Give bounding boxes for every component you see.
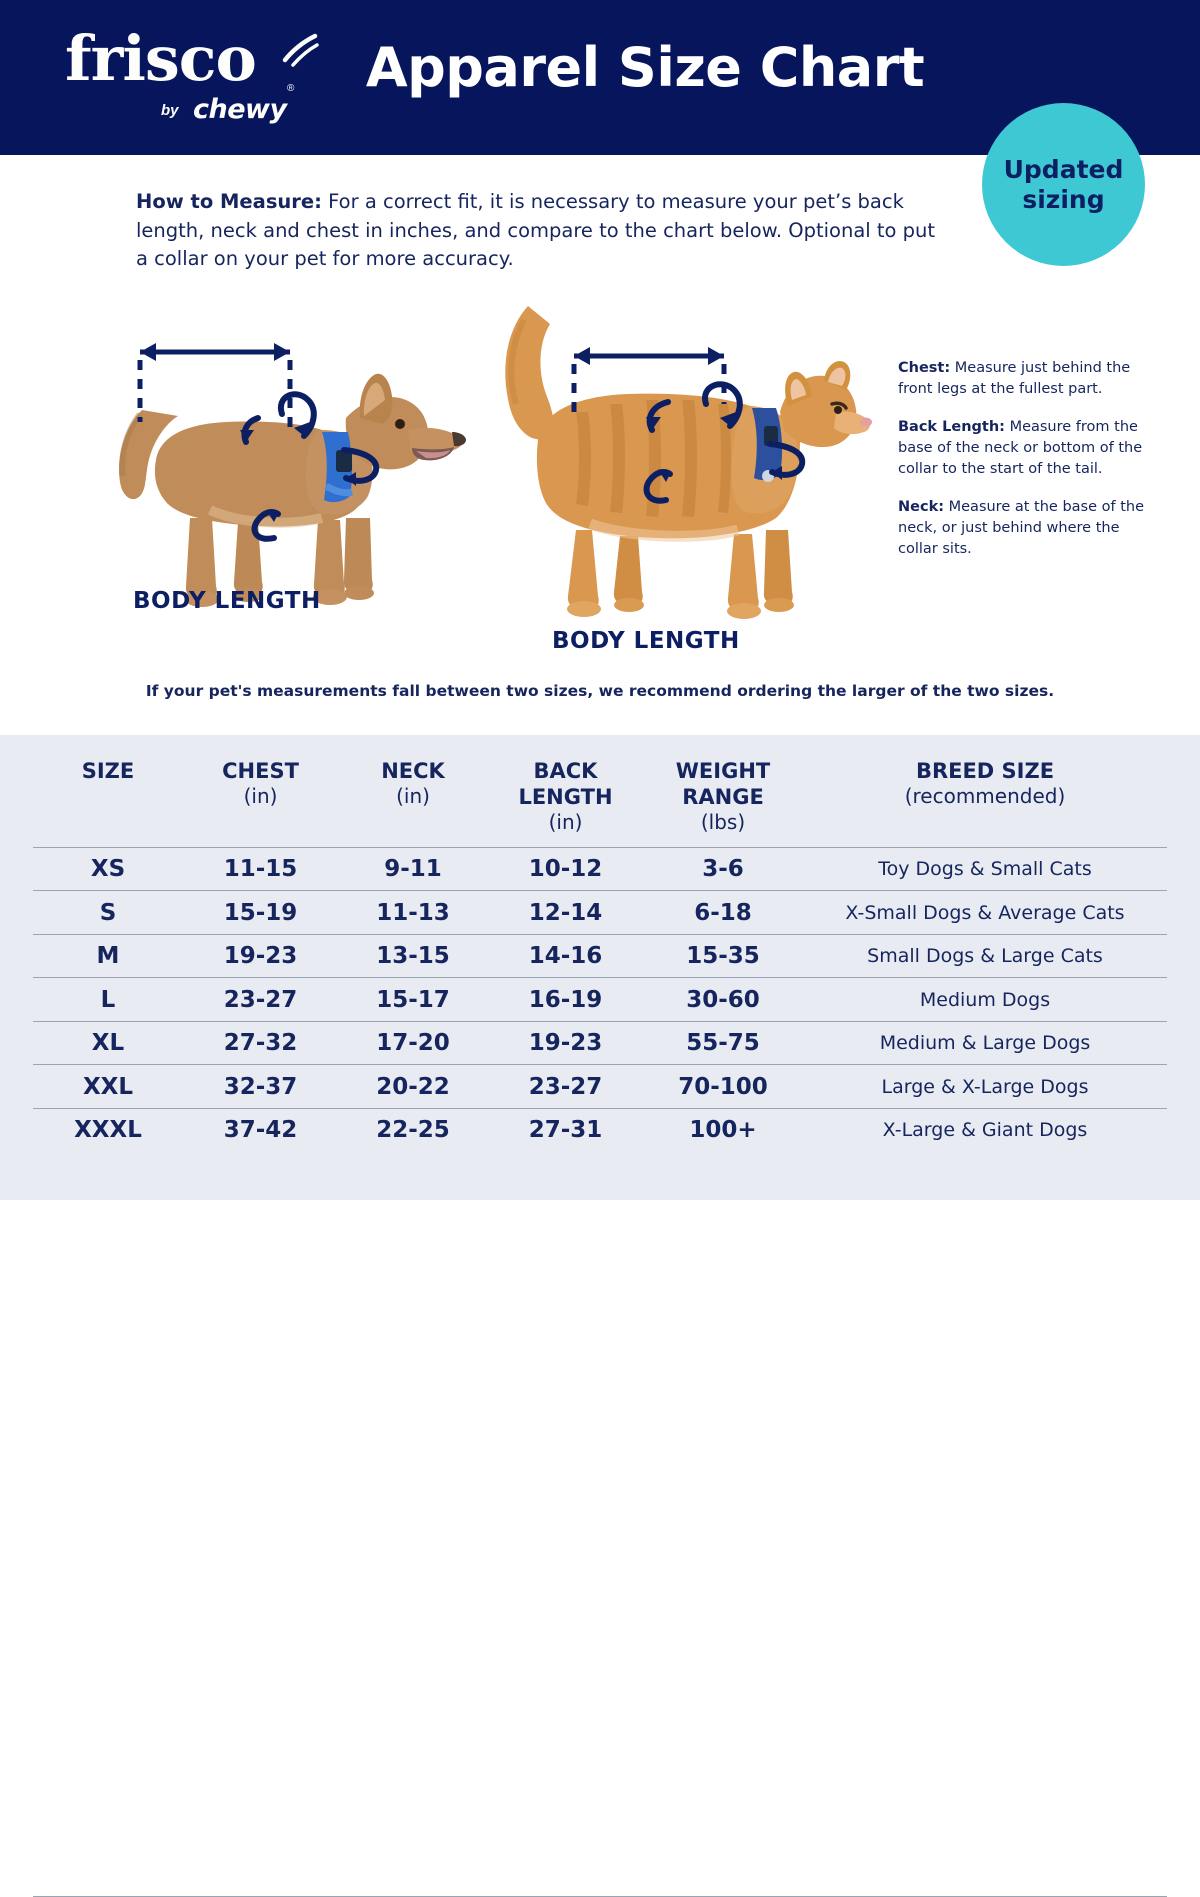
column-header-neck-label: NECK	[381, 759, 445, 783]
intro-label: How to Measure:	[136, 190, 322, 213]
column-header-weight-range: WEIGHT RANGE (lbs)	[643, 735, 803, 847]
definition-back-length-term: Back Length:	[898, 419, 1005, 435]
definition-chest-term: Chest:	[898, 360, 950, 376]
cell-back-length: 16-19	[488, 978, 643, 1022]
column-header-chest-label: CHEST	[222, 759, 299, 783]
column-header-back-length-label: BACK LENGTH	[518, 759, 612, 809]
cell-size: XXL	[33, 1065, 183, 1109]
cell-size: XS	[33, 847, 183, 891]
cell-back-length: 10-12	[488, 847, 643, 891]
cat-body-length-label: BODY LENGTH	[552, 628, 740, 654]
sizing-note: If your pet's measurements fall between …	[0, 682, 1200, 700]
cell-breed: Large & X-Large Dogs	[803, 1065, 1167, 1109]
column-header-size: SIZE	[33, 735, 183, 847]
brand-by-label: by	[161, 102, 179, 119]
definitions-list: Chest: Measure just behind the front leg…	[898, 358, 1156, 560]
cell-size: XXXL	[33, 1108, 183, 1152]
cell-neck: 11-13	[338, 891, 488, 935]
cell-back-length: 12-14	[488, 891, 643, 935]
table-row: M 19-23 13-15 14-16 15-35 Small Dogs & L…	[33, 934, 1167, 978]
column-header-back-length: BACK LENGTH (in)	[488, 735, 643, 847]
cell-neck: 20-22	[338, 1065, 488, 1109]
column-header-breed-size-label: BREED SIZE	[916, 759, 1054, 783]
column-header-weight-range-label: WEIGHT RANGE	[676, 759, 770, 809]
dog-body-length-label: BODY LENGTH	[133, 588, 321, 614]
cell-back-length: 14-16	[488, 934, 643, 978]
cell-back-length: 23-27	[488, 1065, 643, 1109]
cell-breed: X-Large & Giant Dogs	[803, 1108, 1167, 1152]
cell-weight: 6-18	[643, 891, 803, 935]
cell-neck: 13-15	[338, 934, 488, 978]
table-row: XXXL 37-42 22-25 27-31 100+ X-Large & Gi…	[33, 1108, 1167, 1152]
table-header: SIZE CHEST (in) NECK (in) BACK LENGTH (i…	[33, 735, 1167, 847]
cell-chest: 15-19	[183, 891, 338, 935]
cell-size: M	[33, 934, 183, 978]
column-header-size-label: SIZE	[82, 759, 135, 783]
cell-weight: 55-75	[643, 1021, 803, 1065]
cell-size: L	[33, 978, 183, 1022]
cat-illustration	[480, 300, 880, 630]
cell-chest: 19-23	[183, 934, 338, 978]
column-header-neck: NECK (in)	[338, 735, 488, 847]
cell-chest: 27-32	[183, 1021, 338, 1065]
how-to-measure-intro: How to Measure: For a correct fit, it is…	[136, 188, 951, 274]
badge-line-2: sizing	[1022, 185, 1104, 215]
table-header-row: SIZE CHEST (in) NECK (in) BACK LENGTH (i…	[33, 735, 1167, 847]
table-row: XL 27-32 17-20 19-23 55-75 Medium & Larg…	[33, 1021, 1167, 1065]
column-header-breed-size: BREED SIZE (recommended)	[803, 735, 1167, 847]
table-row: L 23-27 15-17 16-19 30-60 Medium Dogs	[33, 978, 1167, 1022]
column-header-chest-unit: (in)	[183, 784, 338, 809]
column-header-weight-range-unit: (lbs)	[643, 810, 803, 835]
cell-chest: 11-15	[183, 847, 338, 891]
cell-size: S	[33, 891, 183, 935]
badge-line-1: Updated	[1004, 155, 1124, 185]
cell-breed: X-Small Dogs & Average Cats	[803, 891, 1167, 935]
column-header-chest: CHEST (in)	[183, 735, 338, 847]
cell-breed: Medium Dogs	[803, 978, 1167, 1022]
cell-breed: Medium & Large Dogs	[803, 1021, 1167, 1065]
size-chart-panel: SIZE CHEST (in) NECK (in) BACK LENGTH (i…	[0, 735, 1200, 1200]
table-row: XS 11-15 9-11 10-12 3-6 Toy Dogs & Small…	[33, 847, 1167, 891]
page-title: Apparel Size Chart	[0, 36, 1200, 99]
definition-neck: Neck: Measure at the base of the neck, o…	[898, 497, 1156, 560]
table-row: XXL 32-37 20-22 23-27 70-100 Large & X-L…	[33, 1065, 1167, 1109]
cell-chest: 32-37	[183, 1065, 338, 1109]
cell-breed: Small Dogs & Large Cats	[803, 934, 1167, 978]
column-header-breed-size-unit: (recommended)	[803, 784, 1167, 809]
cell-weight: 30-60	[643, 978, 803, 1022]
cell-chest: 37-42	[183, 1108, 338, 1152]
cell-breed: Toy Dogs & Small Cats	[803, 847, 1167, 891]
table-body: XS 11-15 9-11 10-12 3-6 Toy Dogs & Small…	[33, 847, 1167, 1152]
table-row: S 15-19 11-13 12-14 6-18 X-Small Dogs & …	[33, 891, 1167, 935]
cell-size: XL	[33, 1021, 183, 1065]
cell-weight: 3-6	[643, 847, 803, 891]
cell-weight: 100+	[643, 1108, 803, 1152]
cell-neck: 22-25	[338, 1108, 488, 1152]
measurement-illustrations: BODY LENGTH NECK CHEST	[0, 290, 1200, 640]
size-chart-table: SIZE CHEST (in) NECK (in) BACK LENGTH (i…	[33, 735, 1167, 1152]
cell-neck: 9-11	[338, 847, 488, 891]
cell-neck: 17-20	[338, 1021, 488, 1065]
column-header-back-length-unit: (in)	[488, 810, 643, 835]
cell-back-length: 27-31	[488, 1108, 643, 1152]
definition-chest: Chest: Measure just behind the front leg…	[898, 358, 1156, 400]
dog-illustration	[60, 290, 480, 630]
column-header-neck-unit: (in)	[338, 784, 488, 809]
definition-back-length: Back Length: Measure from the base of th…	[898, 417, 1156, 480]
cell-chest: 23-27	[183, 978, 338, 1022]
cell-neck: 15-17	[338, 978, 488, 1022]
cell-weight: 15-35	[643, 934, 803, 978]
cell-weight: 70-100	[643, 1065, 803, 1109]
cell-back-length: 19-23	[488, 1021, 643, 1065]
updated-sizing-badge: Updated sizing	[982, 103, 1145, 266]
definition-neck-term: Neck:	[898, 499, 944, 515]
